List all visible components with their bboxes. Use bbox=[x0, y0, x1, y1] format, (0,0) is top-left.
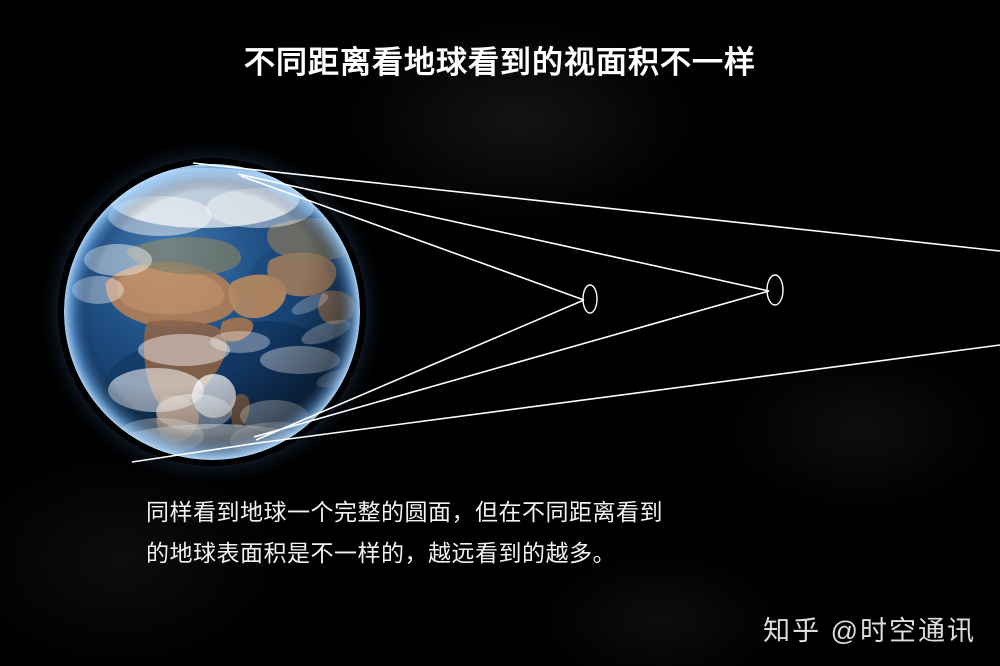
ray-lower-tangent-extended bbox=[258, 345, 1000, 443]
observer-far-eye-icon bbox=[767, 275, 783, 305]
earth-sphere bbox=[64, 164, 360, 460]
caption-line-2: 的地球表面积是不一样的，越远看到的越多。 bbox=[146, 533, 846, 574]
caption: 同样看到地球一个完整的圆面，但在不同距离看到 的地球表面积是不一样的，越远看到的… bbox=[146, 492, 846, 574]
page-title: 不同距离看地球看到的视面积不一样 bbox=[0, 44, 1000, 81]
earth-illustration bbox=[64, 164, 360, 460]
caption-line-1: 同样看到地球一个完整的圆面，但在不同距离看到 bbox=[146, 492, 846, 533]
earth-artwork bbox=[64, 164, 360, 460]
diagram-canvas: 不同距离看地球看到的视面积不一样 bbox=[0, 0, 1000, 666]
watermark: 知乎 @时空通讯 bbox=[763, 609, 976, 648]
observer-near-eye-icon bbox=[583, 285, 597, 313]
